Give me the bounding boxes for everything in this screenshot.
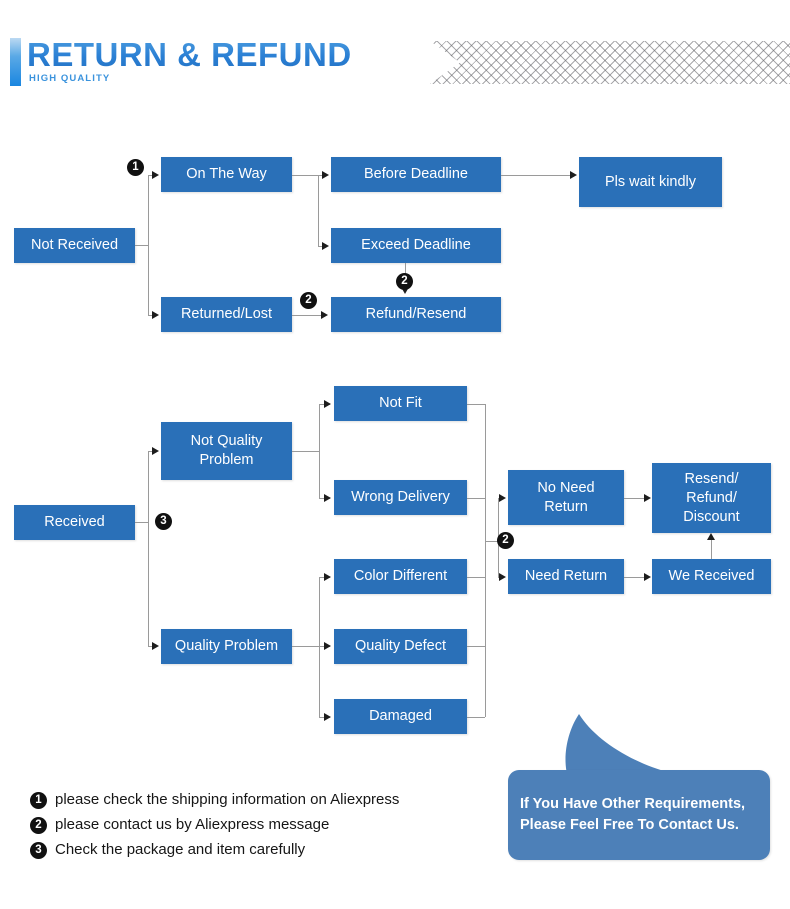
node-wrong-delivery[interactable]: Wrong Delivery: [334, 480, 467, 515]
node-line-1: Resend/: [684, 470, 738, 489]
connector: [319, 404, 320, 498]
connector: [135, 245, 148, 246]
connector: [319, 577, 320, 717]
connector: [148, 451, 149, 647]
connector: [135, 522, 148, 523]
page-header: RETURN & REFUND HIGH QUALITY: [0, 0, 790, 105]
note-text-1: please check the shipping information on…: [55, 789, 399, 811]
connector: [148, 175, 149, 315]
note-marker-2: 2: [30, 817, 47, 834]
arrowhead: [322, 171, 329, 179]
connector: [292, 451, 319, 452]
marker-1-on-the-way: 1: [127, 159, 144, 176]
speech-bubble-tail-icon: [547, 714, 677, 776]
node-pls-wait-kindly[interactable]: Pls wait kindly: [579, 157, 722, 207]
arrowhead: [644, 573, 651, 581]
node-line-2: Refund/: [686, 489, 737, 508]
connector: [467, 498, 485, 499]
note-item: 1 please check the shipping information …: [30, 789, 500, 814]
arrowhead: [152, 171, 159, 179]
title-accent-bar: [10, 38, 21, 86]
node-on-the-way[interactable]: On The Way: [161, 157, 292, 192]
node-line-3: Discount: [683, 508, 739, 527]
arrowhead: [324, 400, 331, 408]
arrowhead: [152, 642, 159, 650]
arrowhead: [324, 573, 331, 581]
node-not-quality-problem[interactable]: Not Quality Problem: [161, 422, 292, 480]
node-we-received[interactable]: We Received: [652, 559, 771, 594]
footer-notes: 1 please check the shipping information …: [30, 789, 500, 864]
crosshatch-ribbon-icon: [430, 41, 790, 84]
note-item: 3 Check the package and item carefully: [30, 839, 500, 864]
arrowhead: [570, 171, 577, 179]
arrowhead: [644, 494, 651, 502]
node-damaged[interactable]: Damaged: [334, 699, 467, 734]
connector: [711, 540, 712, 559]
note-text-3: Check the package and item carefully: [55, 839, 305, 861]
marker-2-returned-lost: 2: [300, 292, 317, 309]
arrowhead: [324, 642, 331, 650]
node-need-return[interactable]: Need Return: [508, 559, 624, 594]
arrowhead: [499, 494, 506, 502]
connector: [467, 577, 485, 578]
node-no-need-return[interactable]: No Need Return: [508, 470, 624, 525]
connector: [292, 315, 324, 316]
connector: [467, 717, 485, 718]
note-marker-1: 1: [30, 792, 47, 809]
node-color-different[interactable]: Color Different: [334, 559, 467, 594]
arrowhead: [152, 311, 159, 319]
node-exceed-deadline[interactable]: Exceed Deadline: [331, 228, 501, 263]
node-refund-resend[interactable]: Refund/Resend: [331, 297, 501, 332]
arrowhead: [324, 713, 331, 721]
connector: [485, 404, 486, 717]
arrowhead: [152, 447, 159, 455]
node-line-2: Problem: [200, 451, 254, 470]
node-quality-problem[interactable]: Quality Problem: [161, 629, 292, 664]
node-not-fit[interactable]: Not Fit: [334, 386, 467, 421]
connector: [292, 175, 318, 176]
node-received[interactable]: Received: [14, 505, 135, 540]
connector: [501, 175, 573, 176]
bubble-line-2: Please Feel Free To Contact Us.: [520, 815, 739, 836]
node-before-deadline[interactable]: Before Deadline: [331, 157, 501, 192]
return-refund-infographic: RETURN & REFUND HIGH QUALITY Not Receive…: [0, 0, 790, 909]
node-not-received[interactable]: Not Received: [14, 228, 135, 263]
marker-2-exceed-deadline: 2: [396, 273, 413, 290]
node-line-2: Return: [544, 498, 588, 517]
contact-bubble[interactable]: If You Have Other Requirements, Please F…: [508, 770, 770, 860]
bubble-line-1: If You Have Other Requirements,: [520, 794, 745, 815]
node-line-1: No Need: [537, 479, 594, 498]
node-returned-lost[interactable]: Returned/Lost: [161, 297, 292, 332]
node-quality-defect[interactable]: Quality Defect: [334, 629, 467, 664]
node-resend-refund-discount[interactable]: Resend/ Refund/ Discount: [652, 463, 771, 533]
arrowhead: [707, 533, 715, 540]
arrowhead: [322, 242, 329, 250]
arrowhead: [499, 573, 506, 581]
note-marker-3: 3: [30, 842, 47, 859]
note-text-2: please contact us by Aliexpress message: [55, 814, 329, 836]
marker-3-received: 3: [155, 513, 172, 530]
note-item: 2 please contact us by Aliexpress messag…: [30, 814, 500, 839]
arrowhead: [321, 311, 328, 319]
connector: [318, 175, 319, 246]
arrowhead: [324, 494, 331, 502]
page-subtitle: HIGH QUALITY: [29, 73, 110, 84]
page-title: RETURN & REFUND: [27, 36, 352, 74]
contact-bubble-text: If You Have Other Requirements, Please F…: [508, 770, 770, 860]
node-line-1: Not Quality: [191, 432, 263, 451]
marker-2-return-decision: 2: [497, 532, 514, 549]
connector: [467, 646, 485, 647]
connector: [467, 404, 485, 405]
connector: [292, 646, 319, 647]
